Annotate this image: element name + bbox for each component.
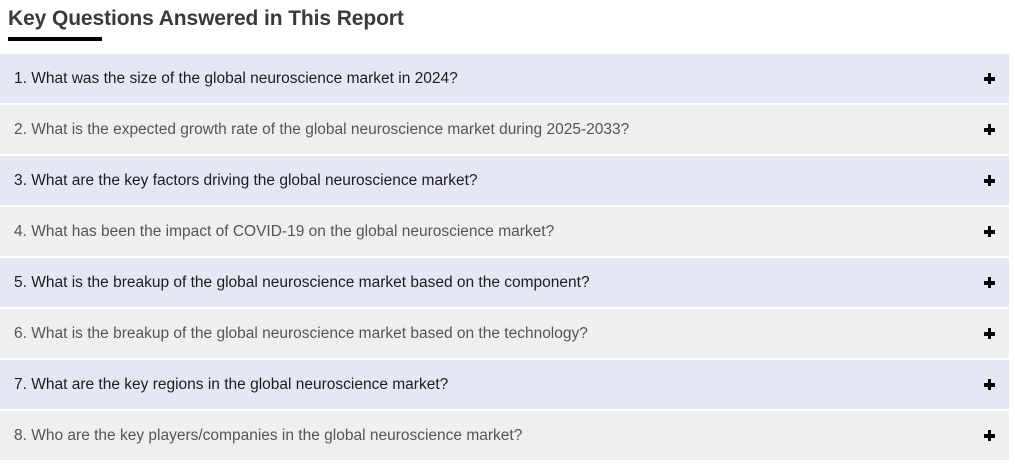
faq-item[interactable]: 2. What is the expected growth rate of t… bbox=[0, 105, 1009, 154]
faq-question-label: 7. What are the key regions in the globa… bbox=[14, 375, 448, 395]
faq-item[interactable]: 5. What is the breakup of the global neu… bbox=[0, 258, 1009, 307]
faq-question-label: 3. What are the key factors driving the … bbox=[14, 171, 478, 191]
page-header: Key Questions Answered in This Report bbox=[0, 0, 1015, 41]
plus-icon[interactable] bbox=[981, 428, 997, 444]
faq-item[interactable]: 4. What has been the impact of COVID-19 … bbox=[0, 207, 1009, 256]
page-title: Key Questions Answered in This Report bbox=[8, 6, 1015, 32]
faq-question-label: 8. Who are the key players/companies in … bbox=[14, 426, 522, 446]
plus-icon[interactable] bbox=[981, 122, 997, 138]
plus-icon[interactable] bbox=[981, 377, 997, 393]
plus-icon[interactable] bbox=[981, 326, 997, 342]
faq-item[interactable]: 3. What are the key factors driving the … bbox=[0, 156, 1009, 205]
faq-question-label: 1. What was the size of the global neuro… bbox=[14, 69, 458, 89]
plus-icon[interactable] bbox=[981, 275, 997, 291]
faq-item[interactable]: 6. What is the breakup of the global neu… bbox=[0, 309, 1009, 358]
faq-item[interactable]: 7. What are the key regions in the globa… bbox=[0, 360, 1009, 409]
faq-accordion-list: 1. What was the size of the global neuro… bbox=[0, 54, 1015, 460]
faq-item[interactable]: 8. Who are the key players/companies in … bbox=[0, 411, 1009, 460]
faq-question-label: 2. What is the expected growth rate of t… bbox=[14, 120, 629, 140]
faq-question-label: 4. What has been the impact of COVID-19 … bbox=[14, 222, 554, 242]
faq-question-label: 5. What is the breakup of the global neu… bbox=[14, 273, 590, 293]
title-underline-rule bbox=[8, 37, 102, 41]
plus-icon[interactable] bbox=[981, 173, 997, 189]
plus-icon[interactable] bbox=[981, 71, 997, 87]
plus-icon[interactable] bbox=[981, 224, 997, 240]
faq-question-label: 6. What is the breakup of the global neu… bbox=[14, 324, 588, 344]
faq-item[interactable]: 1. What was the size of the global neuro… bbox=[0, 54, 1009, 103]
faq-page: Key Questions Answered in This Report 1.… bbox=[0, 0, 1015, 468]
